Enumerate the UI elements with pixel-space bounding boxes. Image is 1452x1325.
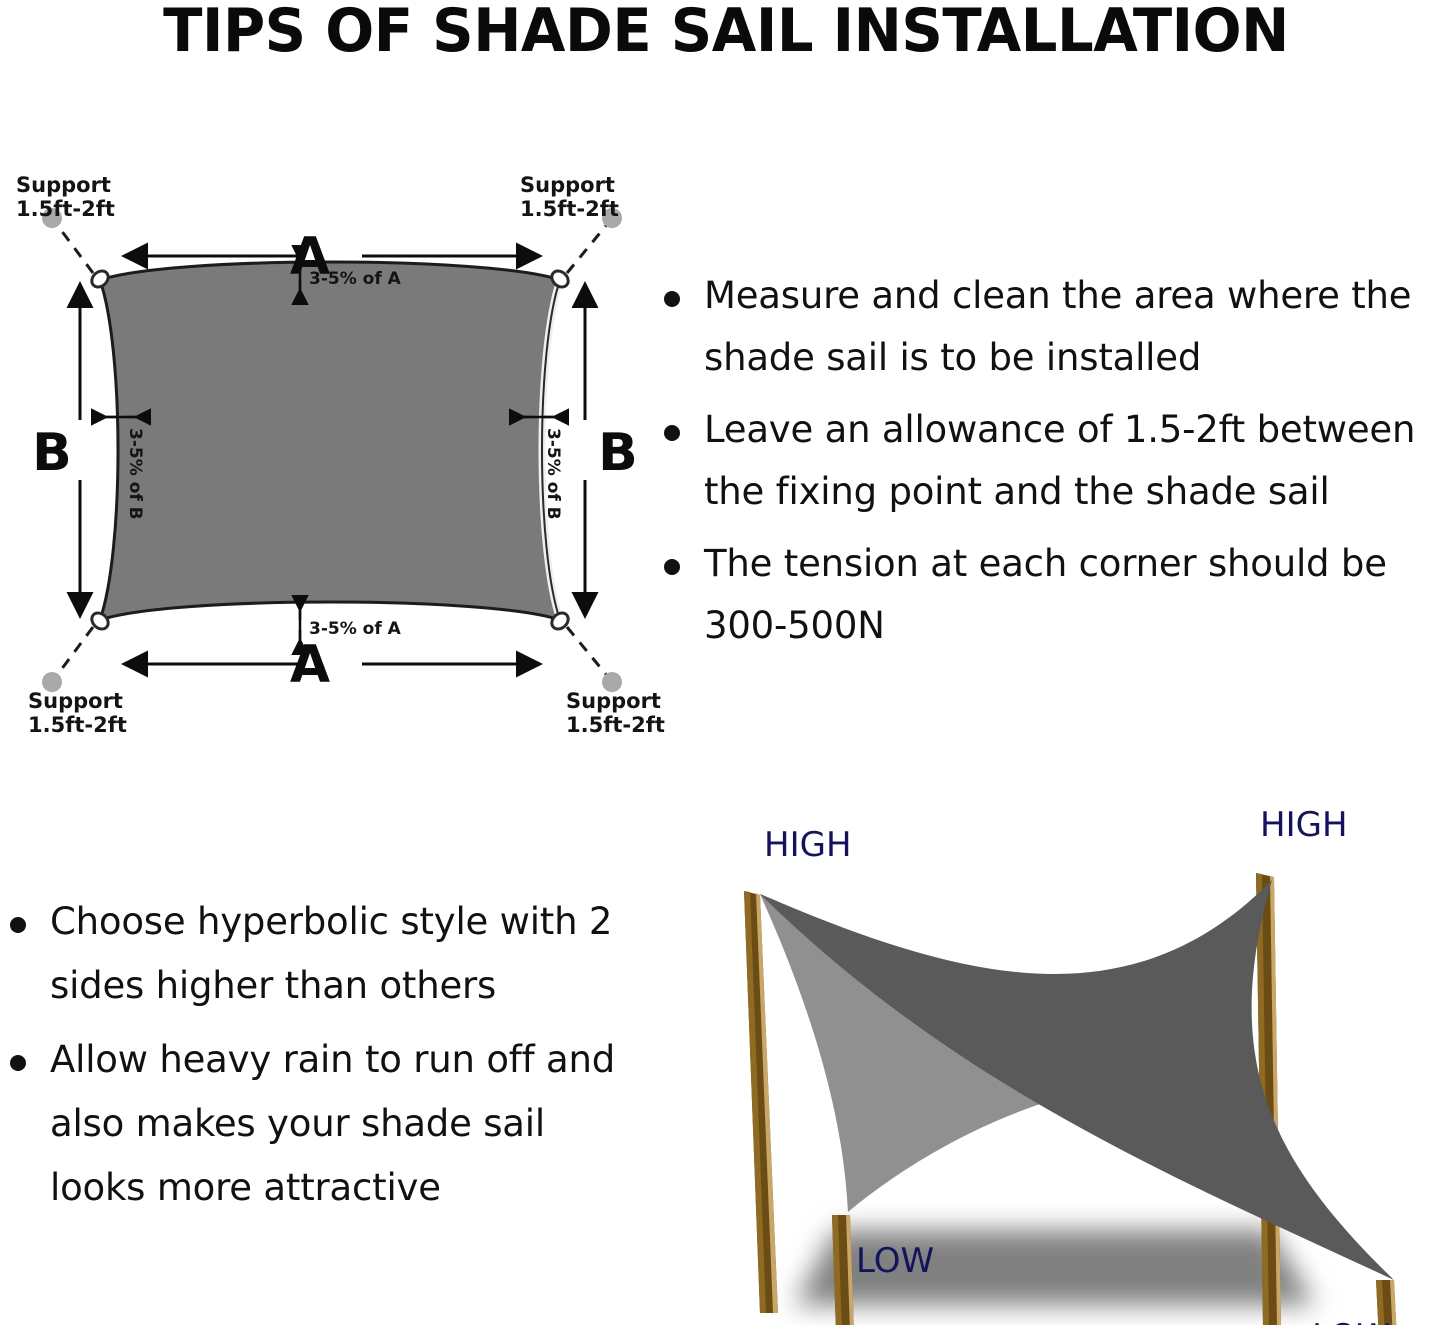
tips-list-top: Measure and clean the area where the sha… <box>648 265 1452 665</box>
label-low-right: LOW <box>1312 1317 1390 1325</box>
curvature-label-right: 3-5% of B <box>543 428 563 520</box>
list-item: The tension at each corner should be 300… <box>648 533 1452 657</box>
list-item: Measure and clean the area where the sha… <box>648 265 1452 389</box>
list-item: Allow heavy rain to run off and also mak… <box>0 1028 630 1220</box>
page-title: TIPS OF SHADE SAIL INSTALLATION <box>29 0 1423 66</box>
hyperbolic-sail-figure: HIGH HIGH LOW LOW <box>660 760 1452 1325</box>
rectangular-sail-diagram: Support 1.5ft-2ft Support 1.5ft-2ft Supp… <box>0 160 660 740</box>
support-label-line1: Support <box>16 173 111 197</box>
pole-high-left <box>744 891 778 1313</box>
tips-list-bottom: Choose hyperbolic style with 2 sides hig… <box>0 890 630 1250</box>
label-high-right: HIGH <box>1260 805 1348 845</box>
label-low-left: LOW <box>856 1241 934 1281</box>
support-label-line2: 1.5ft-2ft <box>566 713 665 737</box>
support-label-line2: 1.5ft-2ft <box>520 197 619 221</box>
support-label-line1: Support <box>28 689 123 713</box>
curvature-label-left: 3-5% of B <box>125 428 145 520</box>
dimension-label-A-bottom: A <box>290 635 330 695</box>
list-item: Choose hyperbolic style with 2 sides hig… <box>0 890 630 1018</box>
support-label-line2: 1.5ft-2ft <box>16 197 115 221</box>
support-label-bottom-left: Support 1.5ft-2ft <box>28 689 127 737</box>
tips-top-list: Measure and clean the area where the sha… <box>648 265 1452 657</box>
support-label-bottom-right: Support 1.5ft-2ft <box>566 689 665 737</box>
support-label-line2: 1.5ft-2ft <box>28 713 127 737</box>
curvature-label-top: 3-5% of A <box>309 269 402 289</box>
shade-sail-shape <box>100 262 560 620</box>
support-label-line1: Support <box>520 173 615 197</box>
curvature-label-bottom: 3-5% of A <box>309 619 402 639</box>
label-high-left: HIGH <box>764 825 852 865</box>
support-label-line1: Support <box>566 689 661 713</box>
dimension-label-B-left: B <box>32 423 72 483</box>
tips-bottom-list: Choose hyperbolic style with 2 sides hig… <box>0 890 630 1220</box>
support-label-top-left: Support 1.5ft-2ft <box>16 173 115 221</box>
support-label-top-right: Support 1.5ft-2ft <box>520 173 619 221</box>
list-item: Leave an allowance of 1.5-2ft between th… <box>648 399 1452 523</box>
dimension-label-B-right: B <box>598 423 638 483</box>
